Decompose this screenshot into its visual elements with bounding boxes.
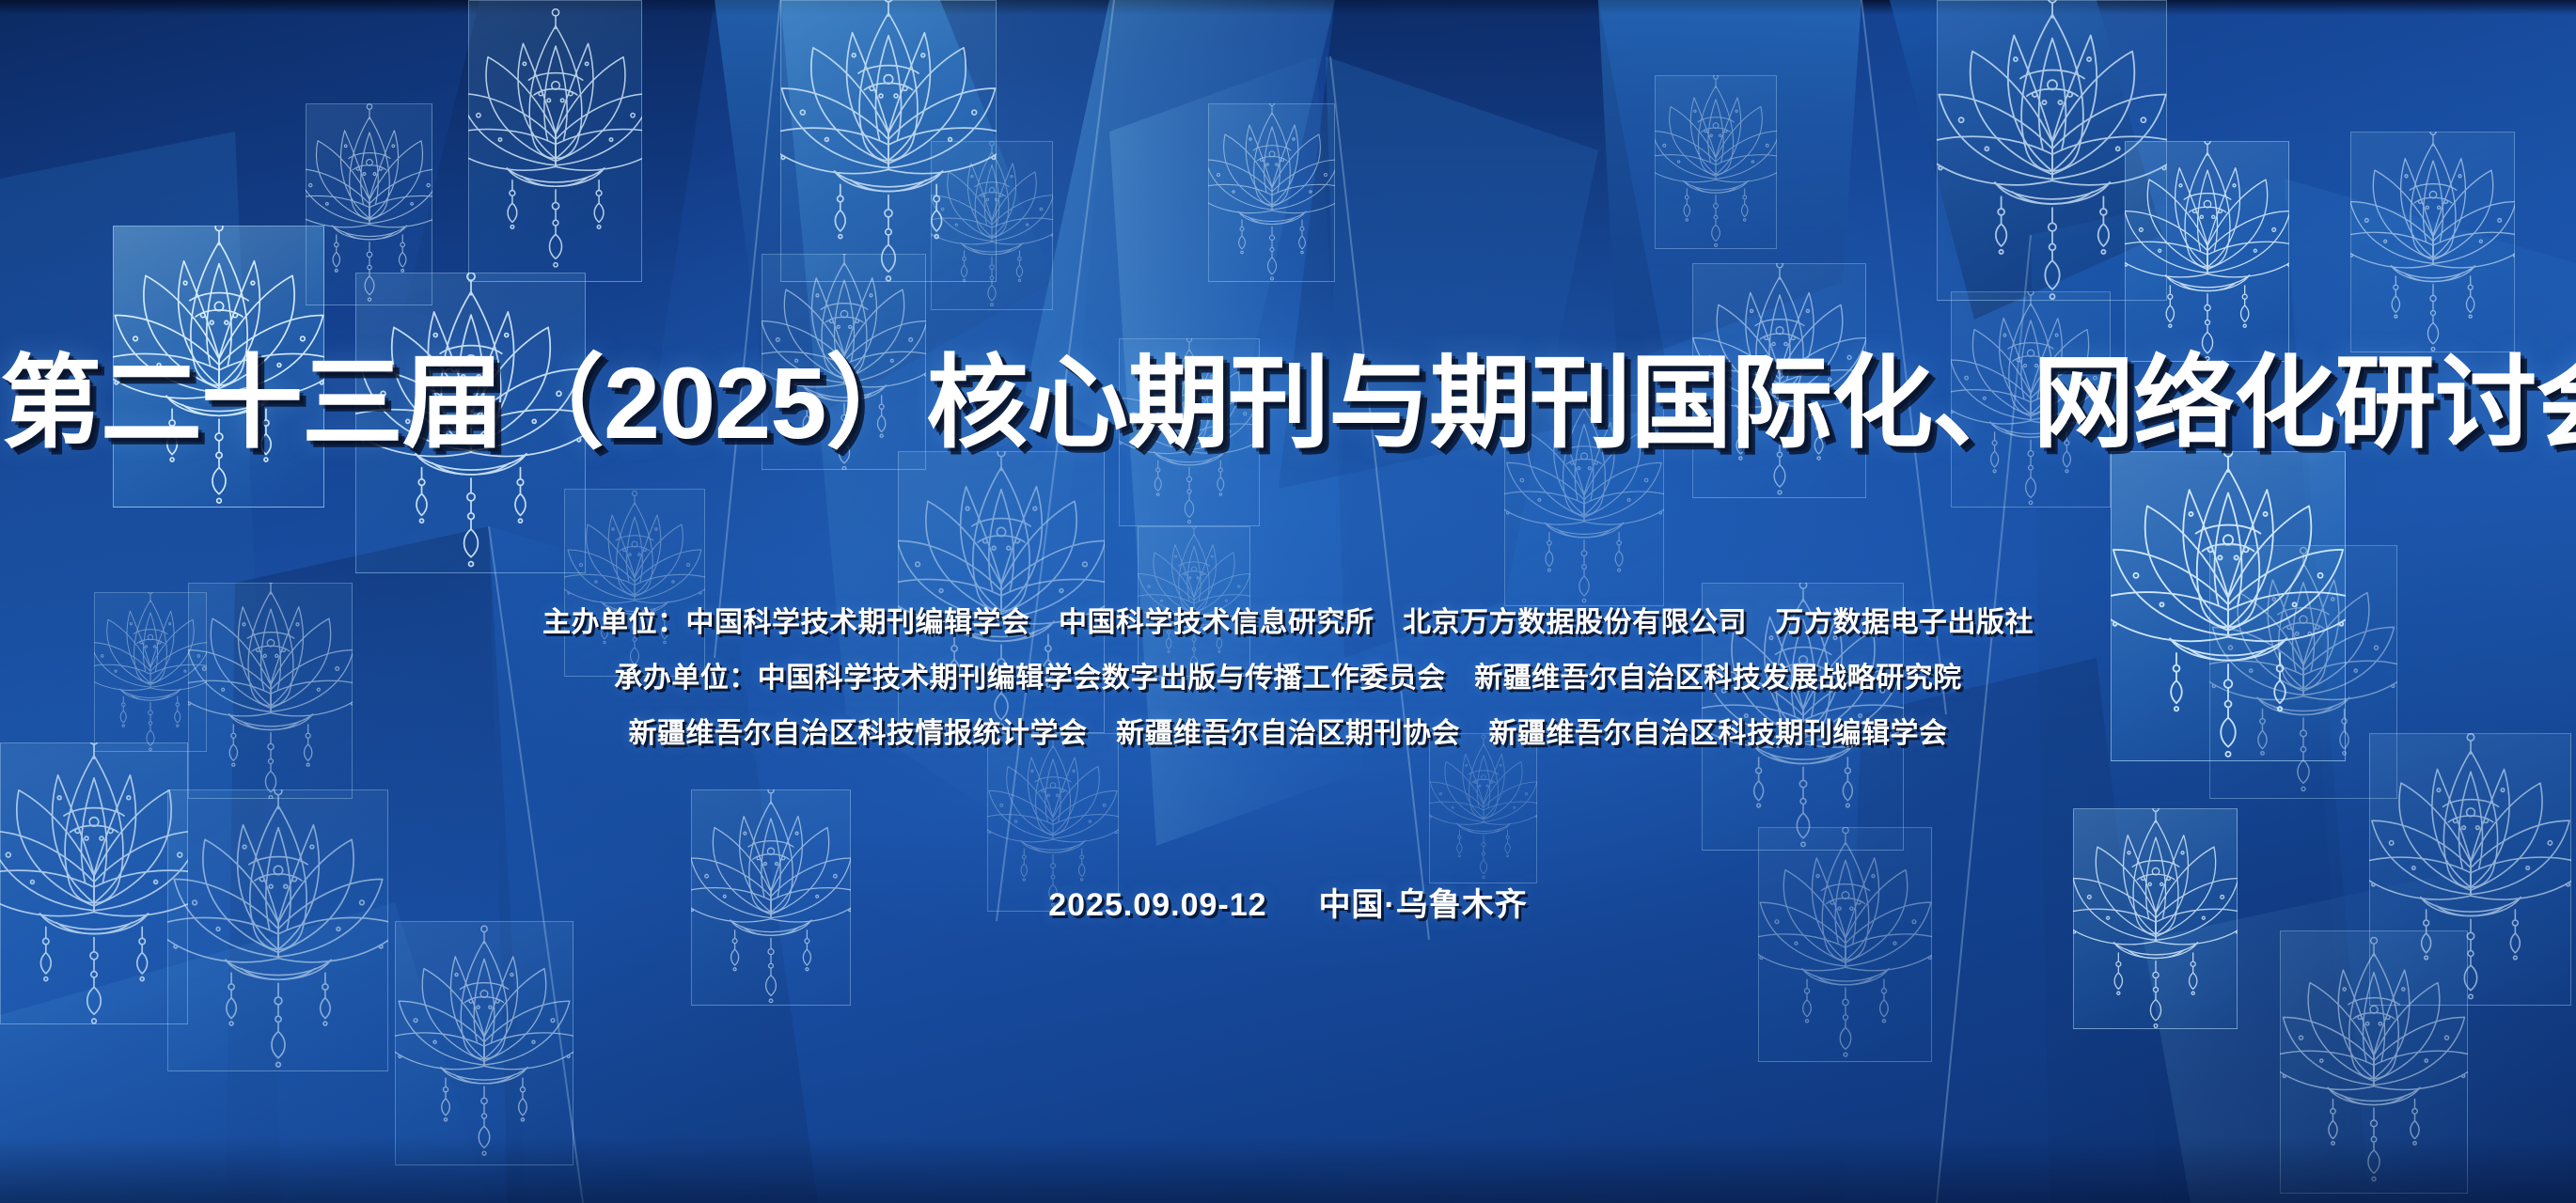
poster-content: 第二十三届（2025）核心期刊与期刊国际化、网络化研讨会 主办单位：中国科学技术… bbox=[0, 0, 2576, 1203]
organizer-block: 主办单位：中国科学技术期刊编辑学会 中国科学技术信息研究所 北京万方数据股份有限… bbox=[0, 609, 2576, 748]
event-date: 2025.09.09-12 bbox=[1048, 887, 1266, 923]
host-organizations-line: 主办单位：中国科学技术期刊编辑学会 中国科学技术信息研究所 北京万方数据股份有限… bbox=[0, 609, 2576, 637]
poster-backdrop: 第二十三届（2025）核心期刊与期刊国际化、网络化研讨会 主办单位：中国科学技术… bbox=[0, 0, 2576, 1203]
bottom-shade-band bbox=[0, 1137, 2576, 1203]
co-organizer-line-1: 承办单位：中国科学技术期刊编辑学会数字出版与传播工作委员会 新疆维吾尔自治区科技… bbox=[0, 664, 2576, 693]
date-location-bar: 2025.09.09-12 中国·乌鲁木齐 bbox=[0, 879, 2576, 925]
event-location: 中国·乌鲁木齐 bbox=[1318, 887, 1527, 923]
co-organizer-line-2: 新疆维吾尔自治区科技情报统计学会 新疆维吾尔自治区期刊协会 新疆维吾尔自治区科技… bbox=[0, 720, 2576, 748]
page-title: 第二十三届（2025）核心期刊与期刊国际化、网络化研讨会 bbox=[0, 350, 2576, 456]
